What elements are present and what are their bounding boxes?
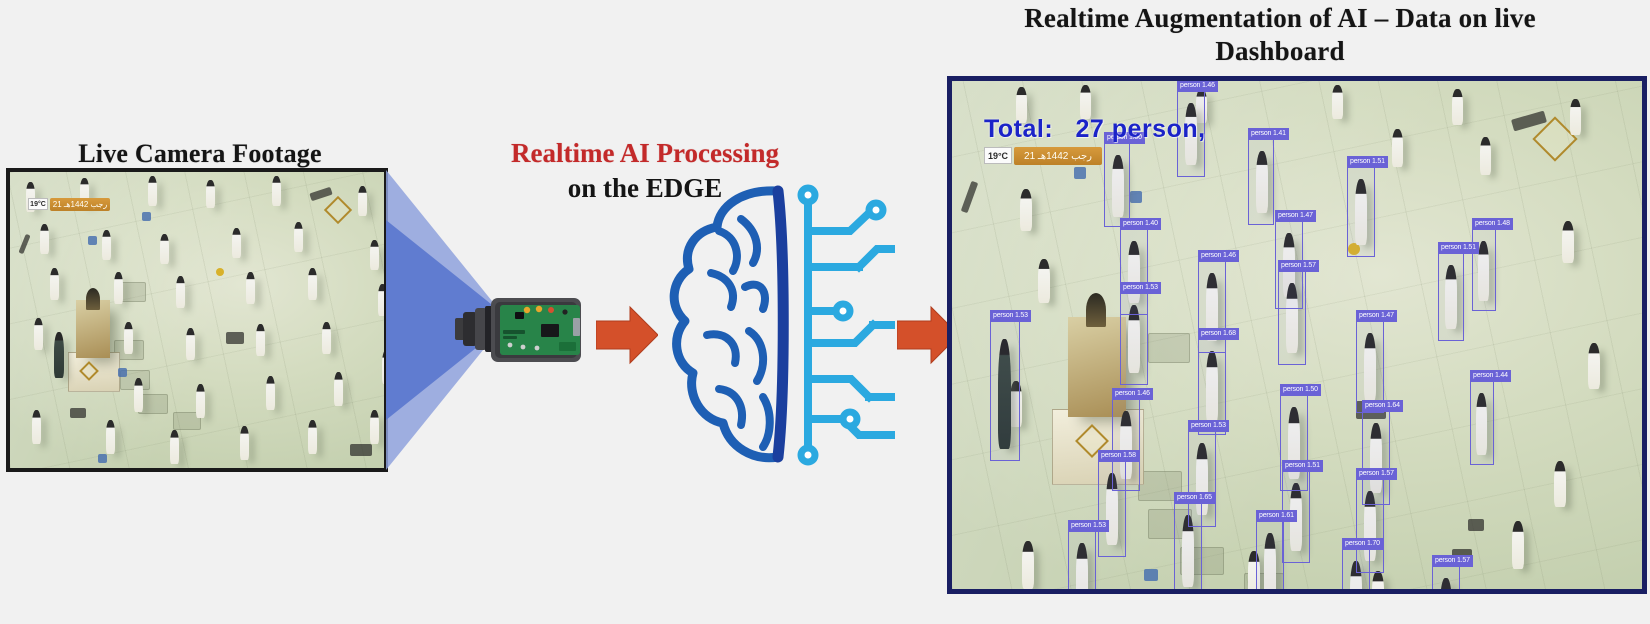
live-camera-footage-panel: 19°C رجب 1442هـ 21 — [6, 168, 388, 472]
detection-box: person 1.57 — [1432, 566, 1460, 594]
person-figure — [232, 228, 241, 258]
detection-label: person 1.61 — [1256, 510, 1297, 522]
detection-box: person 1.44 — [1470, 381, 1494, 465]
detection-box: person 1.48 — [1472, 229, 1496, 311]
left-panel-title: Live Camera Footage — [10, 138, 390, 170]
scene-object — [154, 468, 168, 472]
detection-label: person 1.47 — [1275, 210, 1316, 222]
person-figure — [308, 268, 317, 300]
person-figure — [32, 410, 41, 444]
detection-label: person 1.64 — [1362, 400, 1403, 412]
scene-object — [118, 368, 127, 377]
diagram-canvas: Live Camera Footage — [0, 0, 1650, 624]
temperature-overlay-right: 19°C — [984, 147, 1012, 164]
detection-label: person 1.51 — [1282, 460, 1323, 472]
person-figure — [240, 426, 249, 460]
person-figure — [370, 410, 379, 444]
detection-label: person 1.46 — [1177, 80, 1218, 92]
ai-brain-circuit-graphic — [645, 183, 895, 468]
person-figure — [370, 240, 379, 270]
scene-object — [226, 332, 244, 344]
person-figure — [1452, 89, 1463, 125]
arabic-date-banner-left: رجب 1442هـ 21 — [50, 198, 110, 211]
person-figure — [1480, 137, 1491, 175]
detection-label: person 1.40 — [1120, 218, 1161, 230]
scene-object — [98, 454, 107, 463]
person-figure — [322, 322, 331, 354]
pulpit-finial — [86, 288, 100, 310]
arabic-date-banner-right: رجب 1442هـ 21 — [1014, 147, 1102, 165]
center-title-edge: on the EDGE — [480, 173, 810, 204]
temperature-overlay-left: 19°C — [28, 198, 48, 210]
person-figure — [266, 376, 275, 410]
person-figure — [114, 272, 123, 304]
person-figure — [170, 430, 179, 464]
scene-object — [350, 444, 372, 456]
detection-label: person 1.57 — [1432, 555, 1473, 567]
person-figure — [176, 276, 185, 308]
person-figure — [1038, 259, 1050, 303]
detection-label: person 1.46 — [1112, 388, 1153, 400]
detection-label: person 1.48 — [1472, 218, 1513, 230]
person-figure — [54, 332, 64, 378]
person-figure — [1588, 343, 1600, 389]
person-figure — [106, 420, 115, 454]
detection-label: person 1.57 — [1278, 260, 1319, 272]
detection-label: person 1.57 — [1356, 468, 1397, 480]
person-figure — [1554, 461, 1566, 507]
person-figure — [1562, 221, 1574, 263]
scene-object — [88, 236, 97, 245]
scene-object — [70, 408, 86, 418]
person-figure — [1080, 85, 1091, 119]
right-panel-title: Realtime Augmentation of AI – Data on li… — [1005, 2, 1555, 68]
person-figure — [1020, 189, 1032, 231]
person-figure — [1392, 129, 1403, 167]
person-figure — [1022, 541, 1034, 589]
detection-label: person 1.47 — [1356, 310, 1397, 322]
person-figure — [40, 224, 49, 254]
person-figure — [102, 230, 111, 260]
person-figure — [294, 222, 303, 252]
detection-label: person 1.70 — [1342, 538, 1383, 550]
person-figure — [34, 318, 43, 350]
detection-box: person 1.61 — [1256, 521, 1284, 594]
pulpit-finial — [1086, 293, 1106, 327]
detection-label: person 1.51 — [1347, 156, 1388, 168]
detection-label: person 1.53 — [990, 310, 1031, 322]
detection-label: person 1.53 — [1068, 520, 1109, 532]
scene-object — [216, 268, 224, 276]
scene-object — [1468, 519, 1484, 531]
person-figure — [186, 328, 195, 360]
detection-label: person 1.50 — [1280, 384, 1321, 396]
detection-label: person 1.65 — [1174, 492, 1215, 504]
total-count-overlay: Total: 27 person, — [984, 115, 1206, 144]
detection-box: person 1.50 — [1104, 143, 1130, 227]
detection-box: person 1.51 — [1347, 167, 1375, 257]
person-figure — [308, 420, 317, 454]
detection-box: person 1.70 — [1342, 549, 1370, 594]
detection-box: person 1.53 — [990, 321, 1020, 461]
person-figure — [50, 268, 59, 300]
scene-object — [142, 212, 151, 221]
person-figure — [134, 378, 143, 412]
scene-object — [1130, 191, 1142, 203]
detection-box: person 1.58 — [1098, 461, 1126, 557]
person-figure — [334, 372, 343, 406]
person-figure — [256, 324, 265, 356]
person-figure — [124, 322, 133, 354]
person-figure — [246, 272, 255, 304]
edge-camera-module — [455, 290, 587, 370]
detection-label: person 1.53 — [1120, 282, 1161, 294]
scene-object — [1074, 167, 1086, 179]
person-figure — [160, 234, 169, 264]
person-figure — [1332, 85, 1343, 119]
detection-box: person 1.57 — [1278, 271, 1306, 365]
detection-box: person 1.51 — [1438, 253, 1464, 341]
detection-label: person 1.41 — [1248, 128, 1289, 140]
augmented-dashboard-panel: person 1.46person 1.50person 1.41person … — [947, 76, 1647, 594]
person-figure — [1512, 521, 1524, 569]
center-title-processing: Realtime AI Processing — [480, 138, 810, 169]
detection-label: person 1.68 — [1198, 328, 1239, 340]
person-figure — [1570, 99, 1581, 135]
scene-object — [1144, 569, 1158, 581]
person-figure — [206, 180, 215, 208]
detection-label: person 1.53 — [1188, 420, 1229, 432]
detection-box: person 1.53 — [1068, 531, 1096, 594]
detection-label: person 1.58 — [1098, 450, 1139, 462]
detection-box: person 1.41 — [1248, 139, 1274, 225]
person-figure — [272, 176, 281, 206]
detection-box: person 1.53 — [1120, 293, 1148, 385]
detection-label: person 1.46 — [1198, 250, 1239, 262]
person-figure — [358, 186, 367, 216]
floor-marker — [1148, 333, 1190, 363]
person-figure — [148, 176, 157, 206]
person-figure — [196, 384, 205, 418]
detection-label: person 1.44 — [1470, 370, 1511, 382]
detection-box: person 1.65 — [1174, 503, 1202, 594]
